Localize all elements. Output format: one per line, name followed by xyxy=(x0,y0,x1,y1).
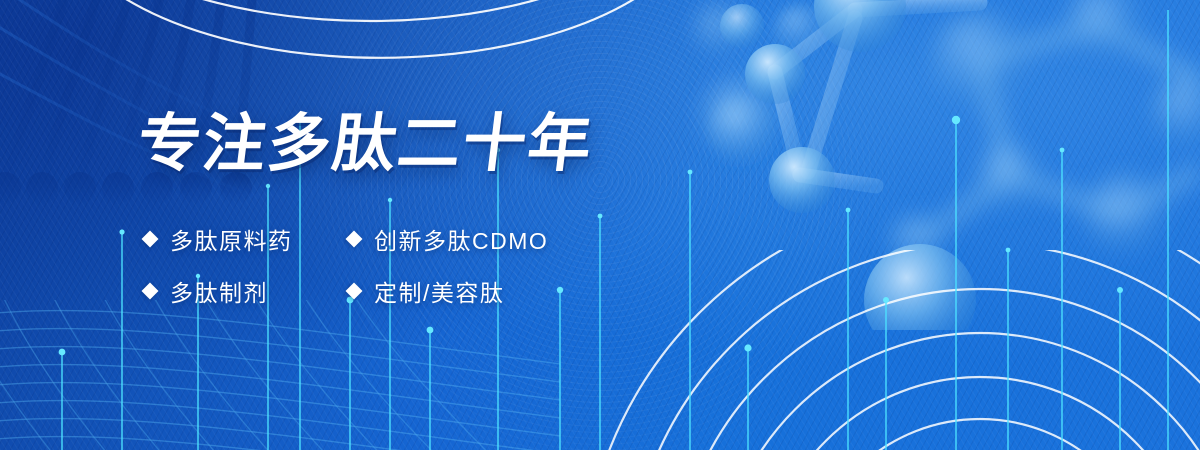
list-item-peptide-api[interactable]: 多肽原料药 xyxy=(144,222,348,256)
list-item-peptide-formulation[interactable]: 多肽制剂 xyxy=(144,274,348,308)
concentric-arc-lines-graphic xyxy=(560,250,1200,450)
diamond-bullet-icon xyxy=(142,283,159,300)
list-item-label: 创新多肽CDMO xyxy=(374,222,548,256)
mesh-wave-grid-graphic xyxy=(0,300,560,450)
promo-banner: 专注多肽二十年 多肽原料药 创新多肽CDMO 多肽制剂 定制/美容肽 xyxy=(0,0,1200,450)
diamond-bullet-icon xyxy=(142,231,159,248)
list-item-label: 多肽制剂 xyxy=(170,274,268,308)
top-arc-lines-graphic xyxy=(60,0,700,100)
list-item-custom-cosmetic-peptide[interactable]: 定制/美容肽 xyxy=(348,274,593,308)
list-item-label: 定制/美容肽 xyxy=(374,274,504,308)
feature-list: 多肽原料药 创新多肽CDMO 多肽制剂 定制/美容肽 xyxy=(144,213,593,317)
list-item-innovative-cdmo[interactable]: 创新多肽CDMO xyxy=(348,222,593,256)
molecule-cluster-graphic xyxy=(680,0,1200,330)
diamond-bullet-icon xyxy=(346,231,363,248)
page-title: 专注多肽二十年 xyxy=(134,112,597,175)
diamond-bullet-icon xyxy=(346,283,363,300)
list-item-label: 多肽原料药 xyxy=(170,222,293,256)
banner-content: 专注多肽二十年 多肽原料药 创新多肽CDMO 多肽制剂 定制/美容肽 xyxy=(138,112,593,317)
